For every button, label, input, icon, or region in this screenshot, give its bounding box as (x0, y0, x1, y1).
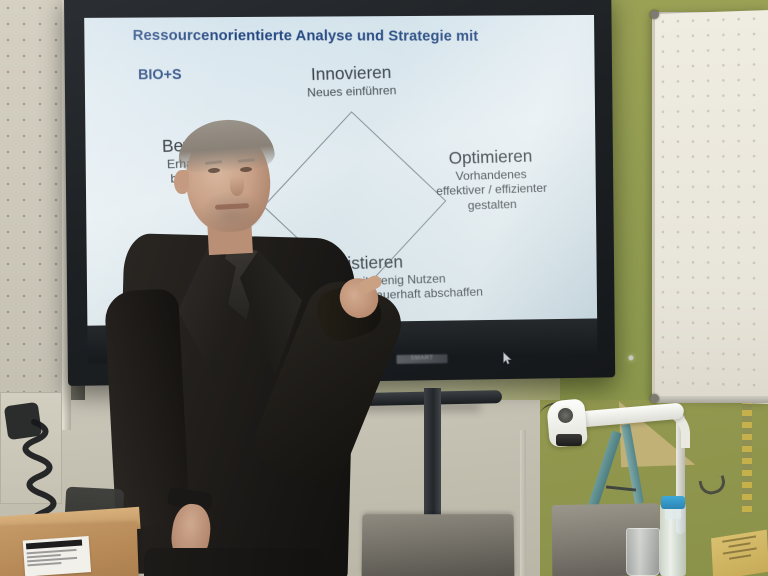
quadrant-innovieren: Innovieren Neues einführen (254, 62, 448, 101)
presenter-nose (230, 176, 244, 196)
presenter-hair (176, 117, 275, 176)
water-bottle-cap (661, 496, 685, 509)
photo-scene: Ressourcenorientierte Analyse und Strate… (0, 0, 768, 576)
card-text-line (728, 542, 750, 547)
perforated-acoustic-panel-left (0, 0, 62, 430)
power-led-indicator (629, 355, 634, 360)
shipping-label (23, 536, 91, 576)
panel-mount-bottom-icon (650, 394, 659, 403)
document-camera-dial[interactable] (556, 406, 575, 425)
table-divider-post (520, 430, 526, 576)
laptop-left[interactable] (362, 514, 515, 576)
panel-mount-top-icon (650, 10, 659, 19)
panel-right-frame-bottom (652, 396, 768, 403)
card-text-line (723, 547, 757, 554)
table-tent-card (711, 530, 768, 576)
label-text-line (27, 549, 77, 554)
label-barcode-icon (26, 540, 82, 550)
label-text-line (27, 562, 61, 566)
peg-strip (742, 398, 752, 514)
slide-title: Ressourcenorientierte Analyse und Strate… (133, 27, 559, 46)
presenter-beard-shadow (198, 190, 264, 232)
card-text-line (722, 535, 756, 542)
presenter (104, 118, 404, 576)
perforated-whiteboard-right (652, 10, 768, 404)
drinking-glass (626, 528, 660, 576)
presenter-ear (174, 170, 189, 194)
quadrant-optimieren-subtext: Vorhandenes effektiver / effizienter ges… (384, 165, 597, 215)
quadrant-optimieren: Optimieren Vorhandenes effektiver / effi… (383, 146, 597, 215)
presenter-trousers (144, 548, 324, 576)
document-camera-lens-icon (556, 434, 582, 446)
cardboard-box (0, 522, 139, 576)
card-text-line (729, 554, 751, 559)
slide-model-tag: BIO+S (138, 66, 182, 83)
display-brand-logo: SMART (396, 354, 447, 364)
